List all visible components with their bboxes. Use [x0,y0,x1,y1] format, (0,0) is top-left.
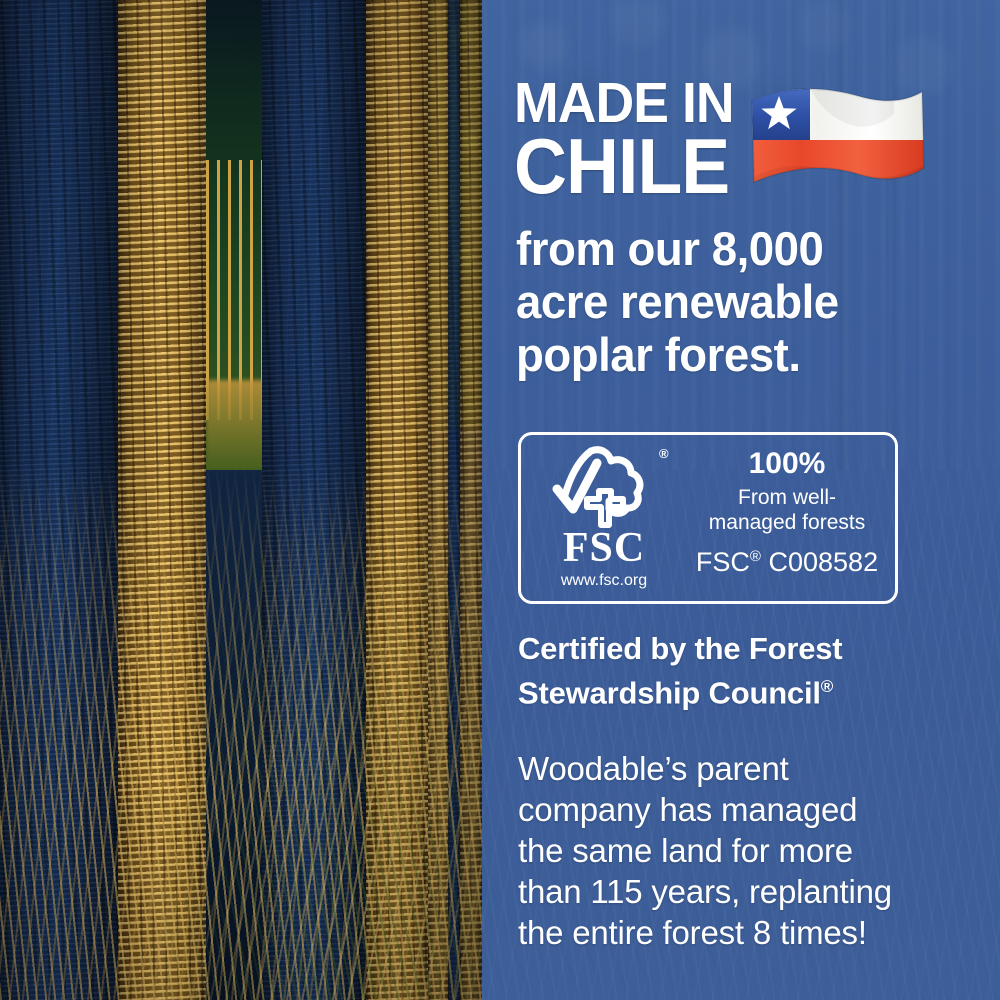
fsc-certification-box: ® FSC www.fsc.org 100% From well- manage… [518,432,898,604]
subheadline-line-2: acre renewable [516,275,972,328]
certified-line-2: Stewardship Council® [518,668,988,712]
body-line-1: Woodable’s parent [518,748,998,789]
body-line-3: the same land for more [518,830,998,871]
body-line-5: the entire forest 8 times! [518,912,998,953]
fsc-description-line-1: From well- [681,485,893,510]
subheadline-line-1: from our 8,000 [516,222,972,275]
subheadline-block: from our 8,000 acre renewable poplar for… [516,222,972,381]
certified-statement: Certified by the Forest Stewardship Coun… [518,630,988,712]
fsc-license-code: FSC® C008582 [681,541,893,578]
certified-line-1: Certified by the Forest [518,630,988,668]
panel-content: MADE IN CHILE [0,0,1000,1000]
fsc-code-number: C008582 [768,547,878,577]
fsc-percent: 100% [681,447,893,481]
fsc-description: From well- managed forests [681,485,893,535]
fsc-description-line-2: managed forests [681,510,893,535]
fsc-letters: FSC [533,527,675,569]
fsc-logo: ® FSC www.fsc.org [533,445,675,595]
body-line-4: than 115 years, replanting [518,871,998,912]
product-infographic-image: MADE IN CHILE [0,0,1000,1000]
certified-registered-icon: ® [821,677,833,696]
fsc-url: www.fsc.org [533,573,675,589]
fsc-code-registered-icon: ® [750,548,761,565]
body-copy: Woodable’s parent company has managed th… [518,748,998,953]
fsc-details: 100% From well- managed forests FSC® C00… [681,447,893,578]
body-line-2: company has managed [518,789,998,830]
fsc-registered-icon: ® [659,447,669,460]
certified-line-2-text: Stewardship Council [518,675,821,710]
fsc-code-prefix: FSC [696,547,750,577]
subheadline-line-3: poplar forest. [516,328,972,381]
fsc-checkmark-tree-icon [551,445,661,531]
chile-flag-icon [748,84,926,202]
